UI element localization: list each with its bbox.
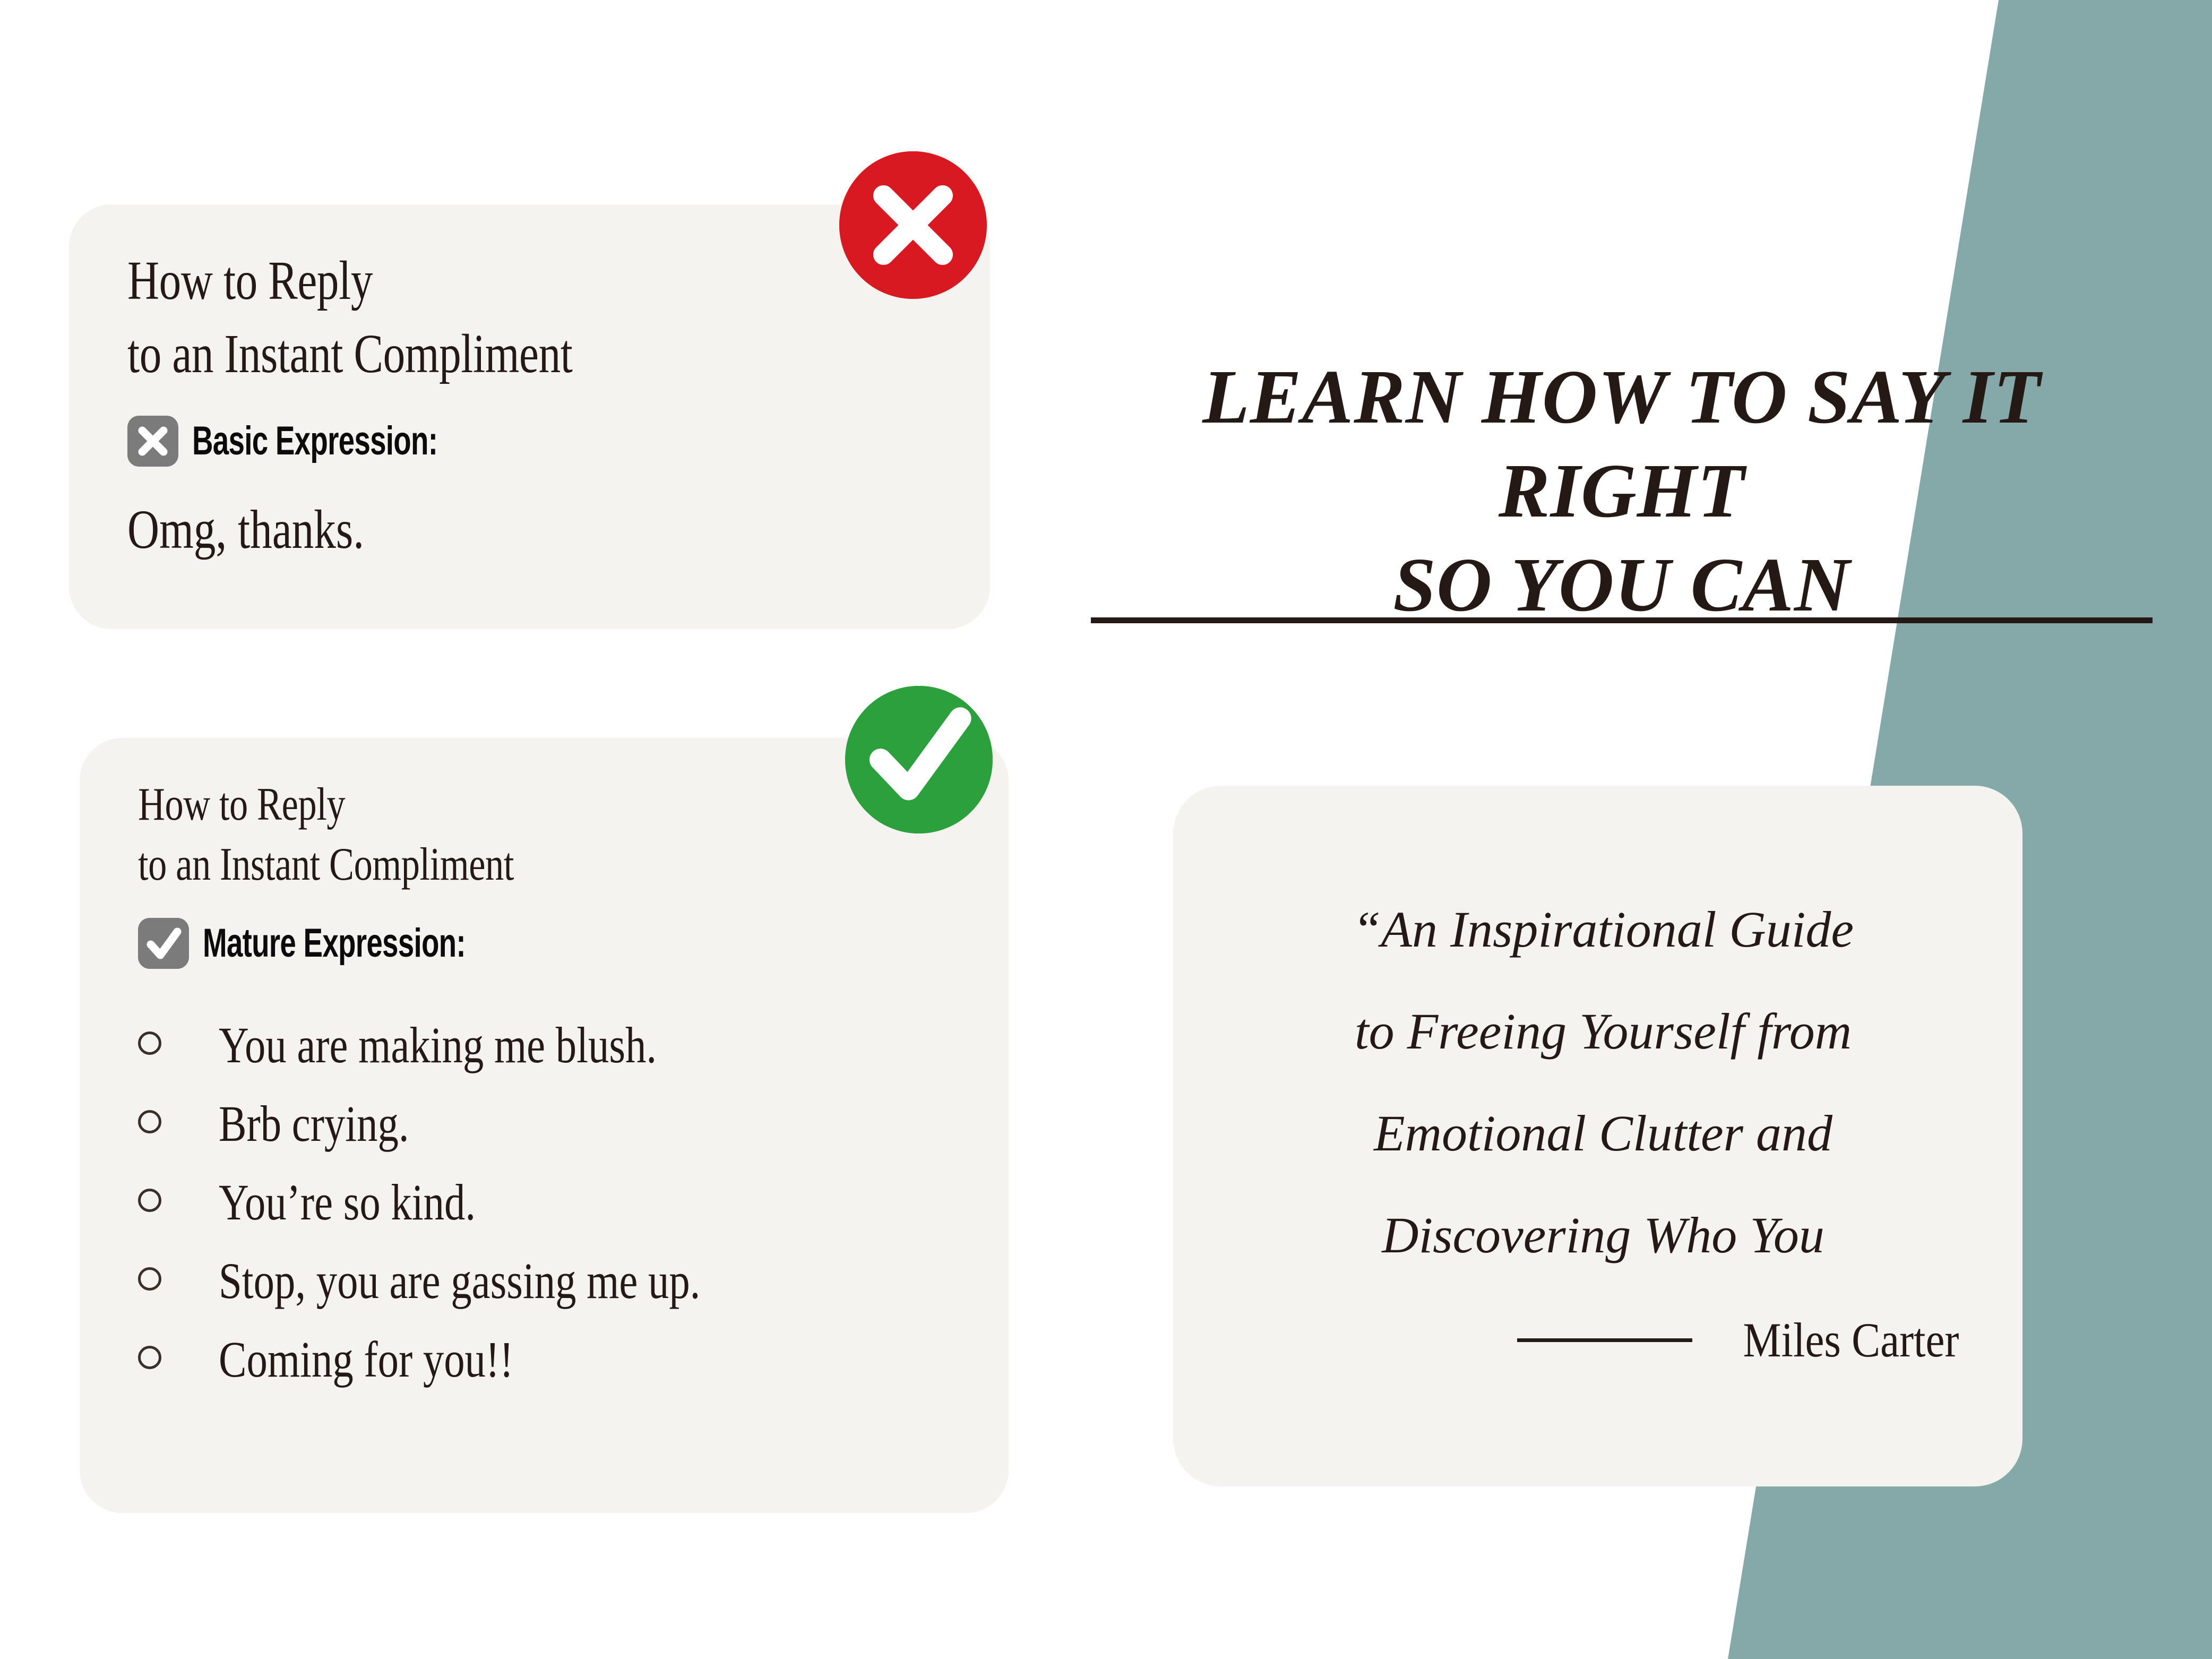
- basic-expression-label-row: Basic Expression:: [127, 416, 942, 467]
- mature-expression-label-row: Mature Expression:: [138, 918, 961, 969]
- list-item: You’re so kind.: [138, 1177, 961, 1228]
- quote-text: “An Inspirational Guide to Freeing Yours…: [1232, 879, 1975, 1286]
- mature-reply-list: You are making me blush. Brb crying. You…: [138, 1020, 961, 1385]
- poster-canvas: How to Reply to an Instant Compliment Ba…: [0, 0, 2212, 1659]
- headline-divider: [1091, 617, 2153, 623]
- ring-bullet-icon: [138, 1031, 161, 1055]
- page-title: LEARN HOW TO SAY IT RIGHT SO YOU CAN: [1091, 350, 2153, 632]
- mature-card-title: How to Reply to an Instant Compliment: [138, 775, 961, 895]
- mature-expression-label: Mature Expression:: [203, 923, 466, 964]
- attribution-dash-icon: [1517, 1338, 1692, 1342]
- basic-expression-label: Basic Expression:: [192, 421, 437, 461]
- quote-attribution: Miles Carter: [1232, 1316, 1975, 1364]
- basic-answer-text: Omg, thanks.: [127, 495, 779, 564]
- ring-bullet-icon: [138, 1346, 161, 1369]
- reply-text: Brb crying.: [219, 1098, 409, 1149]
- basic-card-title: How to Reply to an Instant Compliment: [127, 244, 942, 391]
- ring-bullet-icon: [138, 1189, 161, 1212]
- ring-bullet-icon: [138, 1267, 161, 1291]
- mature-expression-card: How to Reply to an Instant Compliment Ma…: [80, 738, 1009, 1513]
- x-mark-icon: [127, 416, 178, 467]
- ring-bullet-icon: [138, 1110, 161, 1133]
- list-item: Stop, you are gassing me up.: [138, 1256, 961, 1306]
- check-circle-icon: [845, 686, 993, 833]
- reply-text: Coming for you!!: [219, 1334, 513, 1385]
- reply-text: You’re so kind.: [219, 1177, 476, 1228]
- list-item: Brb crying.: [138, 1098, 961, 1149]
- reply-text: Stop, you are gassing me up.: [219, 1256, 700, 1306]
- list-item: You are making me blush.: [138, 1020, 961, 1071]
- cross-circle-icon: [839, 151, 987, 299]
- author-name: Miles Carter: [1743, 1316, 1959, 1364]
- checkmark-icon: [138, 918, 189, 969]
- list-item: Coming for you!!: [138, 1334, 961, 1385]
- quote-card: “An Inspirational Guide to Freeing Yours…: [1173, 786, 2022, 1486]
- reply-text: You are making me blush.: [219, 1020, 657, 1071]
